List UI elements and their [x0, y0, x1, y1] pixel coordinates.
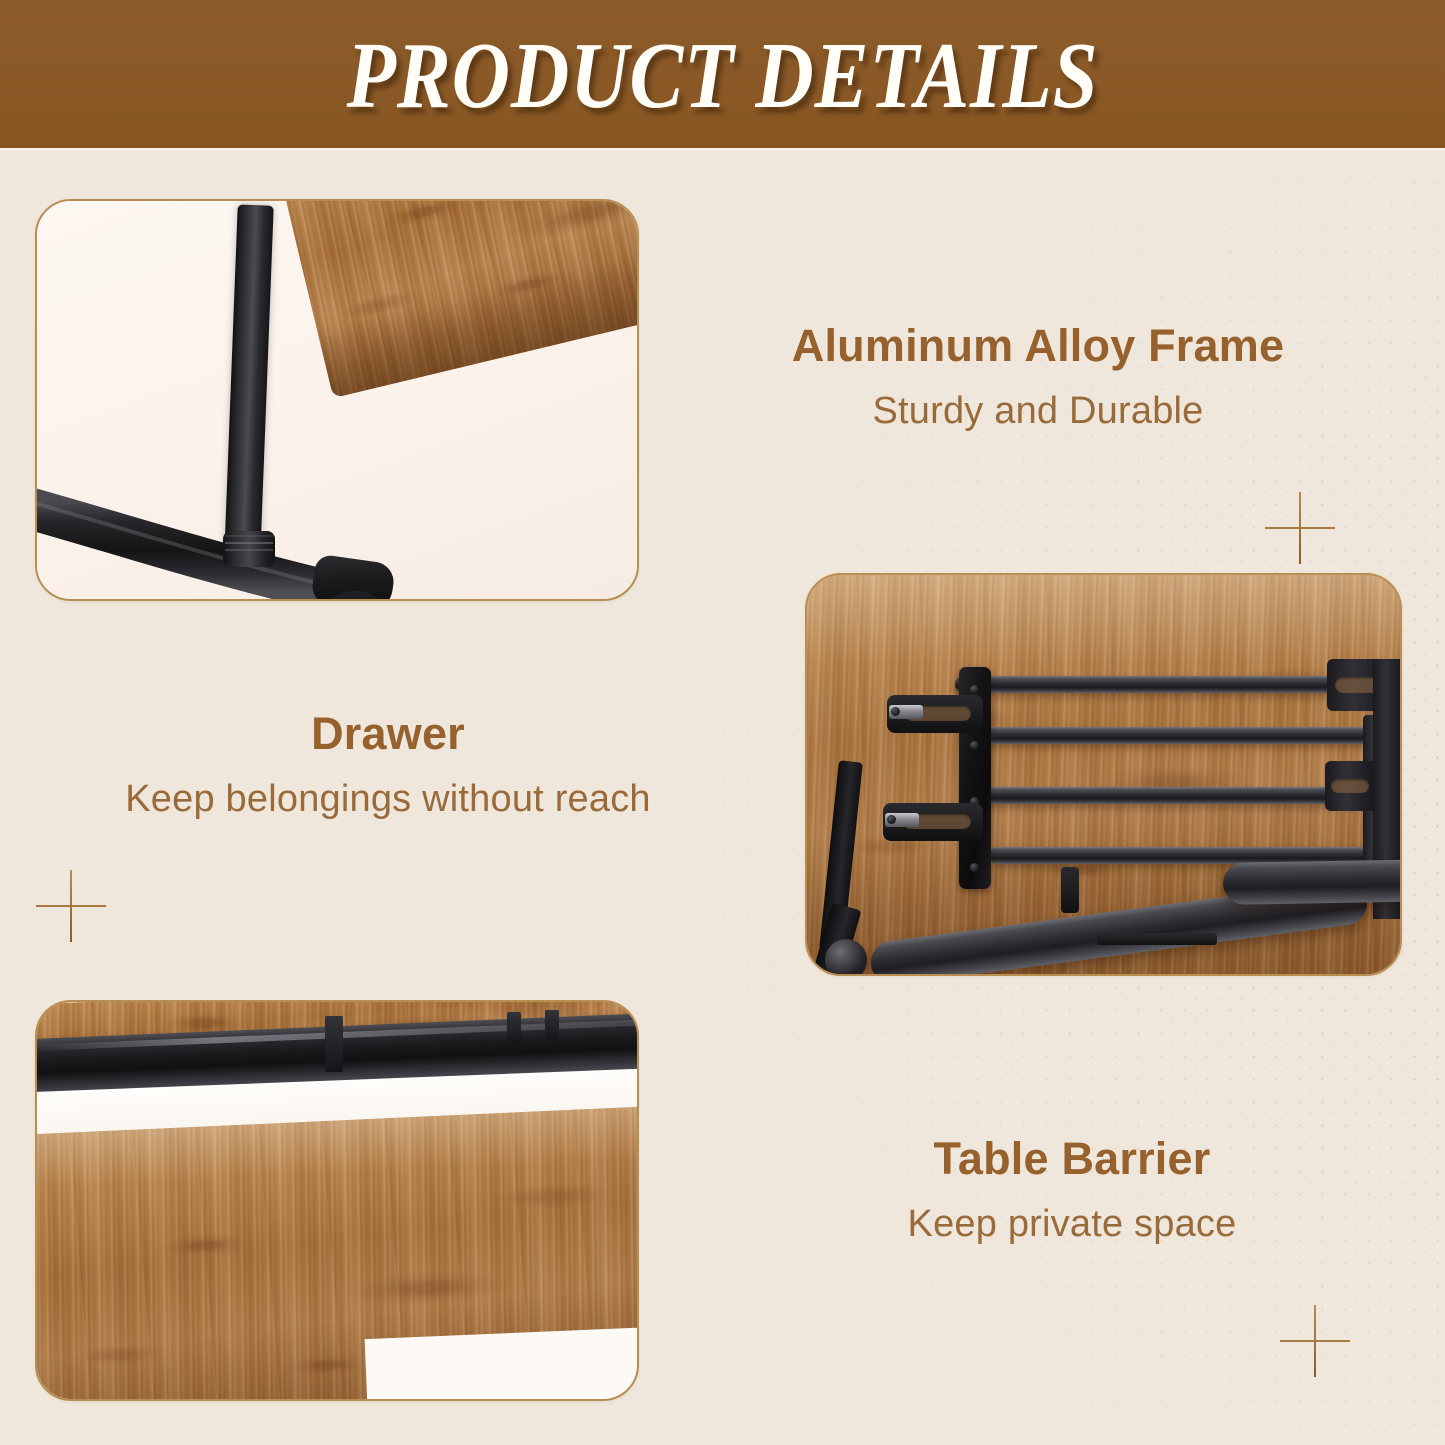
cross-horizontal [1265, 527, 1335, 529]
decorative-cross-icon [1265, 492, 1335, 564]
tube-bracket [1061, 867, 1079, 913]
cross-horizontal [1280, 1340, 1350, 1342]
feature-subtitle: Sturdy and Durable [688, 391, 1388, 433]
leg-joint-collar [223, 531, 275, 567]
decorative-cross-icon [1280, 1305, 1350, 1377]
tube-support [1097, 933, 1217, 945]
infographic-canvas: PRODUCT DETAILS [0, 0, 1445, 1445]
photo-drawer-rails [807, 575, 1400, 974]
header-banner: PRODUCT DETAILS [0, 0, 1445, 148]
feature-title: Aluminum Alloy Frame [688, 322, 1388, 371]
plate-screw [970, 863, 979, 872]
plate-screw [970, 685, 979, 694]
plate-screw [970, 741, 979, 750]
adjust-knob [825, 939, 867, 974]
cross-horizontal [36, 905, 106, 907]
rail-clip [545, 1010, 559, 1040]
bracket-screw-upper [891, 707, 900, 716]
cross-vertical [1299, 492, 1301, 564]
feature-text-drawer: Drawer Keep belongings without reach [58, 710, 718, 820]
decorative-cross-icon [36, 870, 106, 942]
photo-barrier [37, 1002, 637, 1399]
page-title: PRODUCT DETAILS [101, 22, 1344, 130]
photo-frame-closeup [37, 201, 637, 599]
cross-vertical [1314, 1305, 1316, 1377]
feature-text-table-barrier: Table Barrier Keep private space [742, 1135, 1402, 1245]
bracket-screw-lower [887, 815, 896, 824]
right-hardware-slot [1331, 779, 1369, 793]
cross-vertical [70, 870, 72, 942]
header-highlight-strip [0, 148, 1445, 152]
feature-subtitle: Keep belongings without reach [58, 779, 718, 821]
photo-panel-table-barrier [35, 1000, 639, 1401]
feature-title: Drawer [58, 710, 718, 759]
feature-subtitle: Keep private space [742, 1204, 1402, 1246]
feature-title: Table Barrier [742, 1135, 1402, 1184]
feature-text-aluminum-alloy-frame: Aluminum Alloy Frame Sturdy and Durable [688, 322, 1388, 432]
rail-clip [507, 1012, 521, 1042]
photo-panel-aluminum-alloy-frame [35, 199, 639, 601]
drawer-rail-rod [967, 727, 1400, 744]
photo-panel-drawer [805, 573, 1402, 976]
rail-clip [325, 1016, 343, 1072]
cross-tube [1223, 859, 1400, 905]
